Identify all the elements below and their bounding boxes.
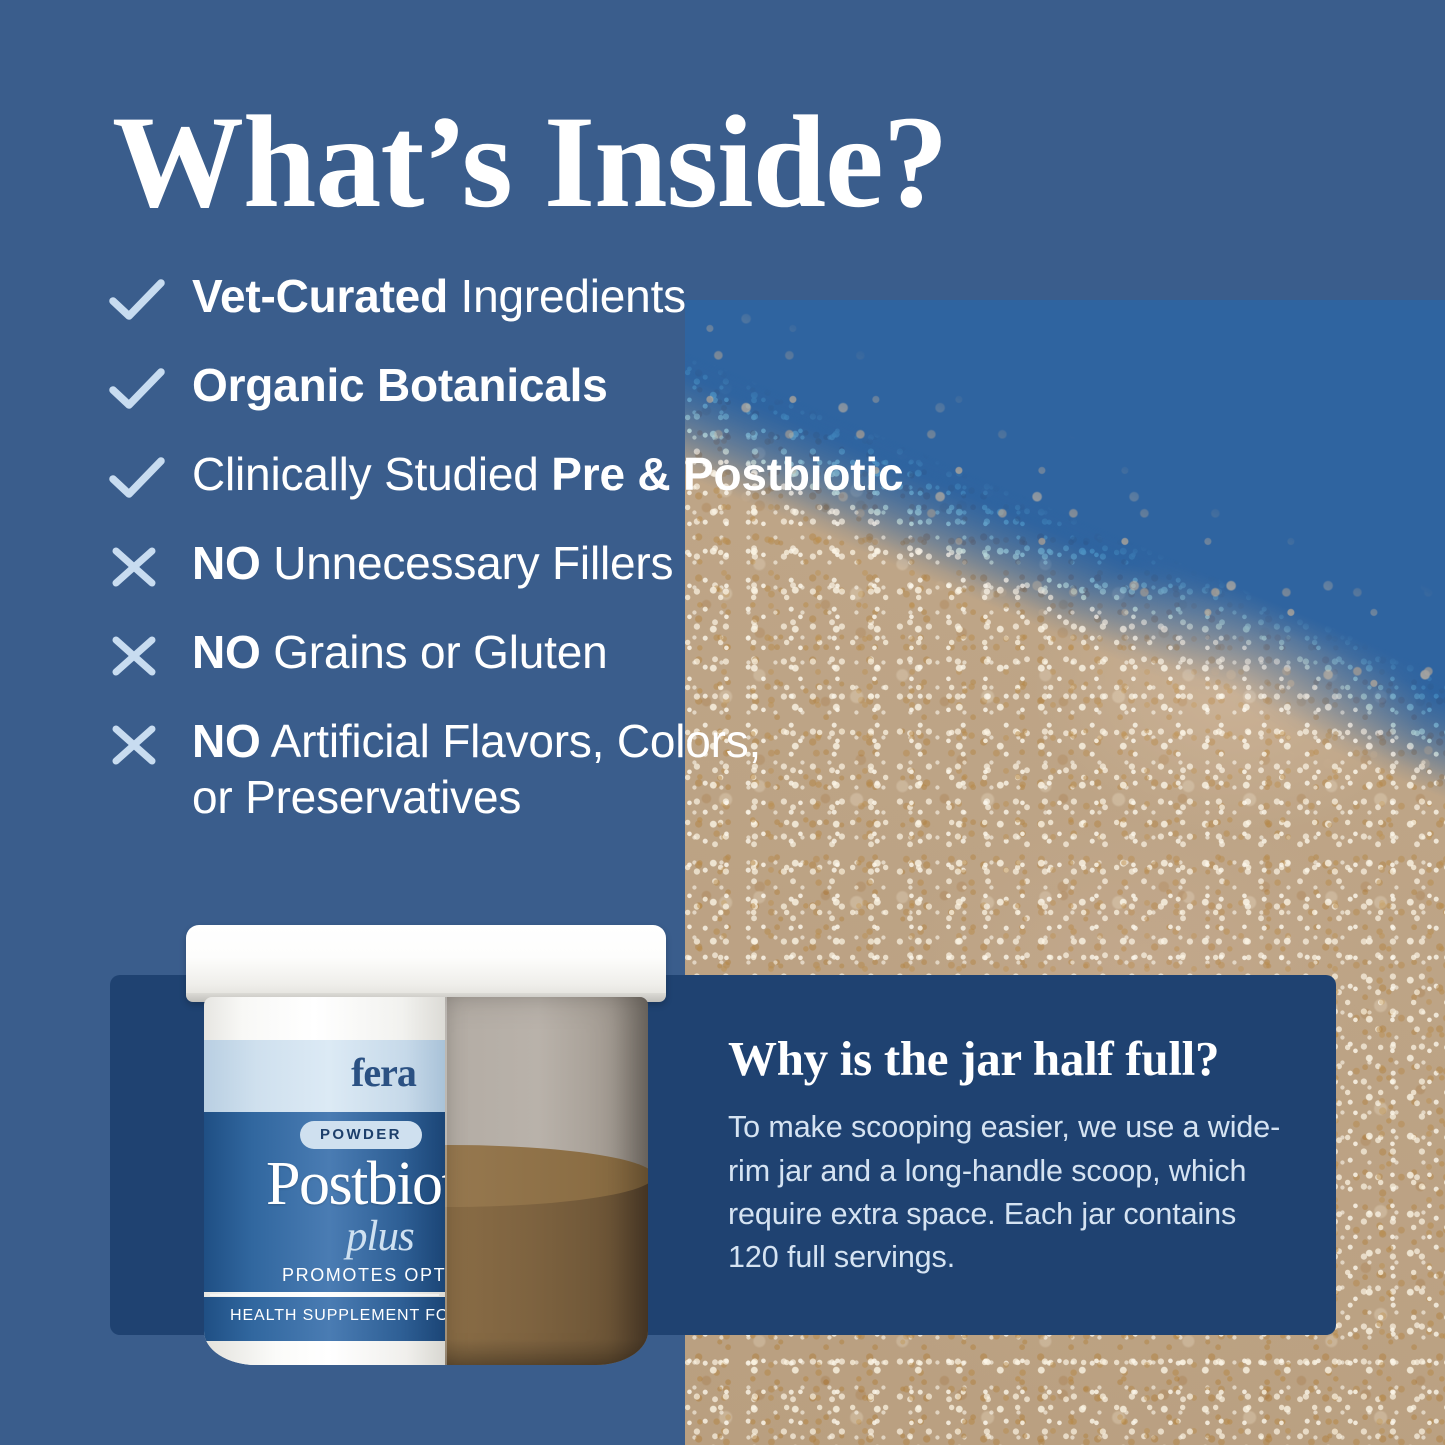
list-item: Vet-Curated Ingredients (108, 268, 1108, 330)
list-item: NO Grains or Gluten (108, 624, 1108, 686)
list-item: NO Unnecessary Fillers (108, 535, 1108, 597)
label-bottom-white (204, 1341, 445, 1365)
list-item-label: Clinically Studied Pre & Postbiotic (192, 446, 903, 502)
list-item: NO Artificial Flavors, Colors, or Preser… (108, 713, 1108, 825)
list-item-emphasis: NO (192, 537, 261, 589)
list-item-label: NO Grains or Gluten (192, 624, 607, 680)
list-item-label: NO Unnecessary Fillers (192, 535, 673, 591)
list-item-label: NO Artificial Flavors, Colors, or Preser… (192, 713, 761, 825)
list-item-emphasis: NO (192, 626, 261, 678)
list-item-label: Organic Botanicals (192, 357, 608, 413)
jar-body: fera POWDER Postbiotic plus PROMOTES OPT… (204, 997, 648, 1365)
list-item: Organic Botanicals (108, 357, 1108, 419)
jar-cutaway-interior (445, 997, 648, 1365)
list-item-rest: Unnecessary Fillers (261, 537, 674, 589)
list-item-emphasis: Vet-Curated (192, 270, 448, 322)
info-card-body: Why is the jar half full? To make scoopi… (728, 1033, 1288, 1280)
form-badge: POWDER (300, 1121, 422, 1149)
feature-list: Vet-Curated Ingredients Organic Botanica… (108, 268, 1108, 852)
info-card-text: To make scooping easier, we use a wide-r… (728, 1106, 1288, 1279)
product-subname: plus (204, 1212, 445, 1261)
list-item-label: Vet-Curated Ingredients (192, 268, 686, 324)
list-item-rest: Artificial Flavors, Colors, or Preservat… (192, 715, 761, 823)
check-icon (108, 268, 192, 323)
powder-fill-surface (445, 1145, 648, 1207)
cross-icon (108, 535, 192, 590)
cross-icon (108, 713, 192, 768)
product-jar: fera POWDER Postbiotic plus PROMOTES OPT… (186, 925, 666, 1365)
product-name: Postbiotic (204, 1149, 445, 1220)
list-item-emphasis: Organic Botanicals (192, 359, 608, 411)
list-item-lead: Clinically Studied (192, 448, 551, 500)
product-footer-text: HEALTH SUPPLEMENT FOR DOGS + CATS (204, 1307, 445, 1325)
cross-icon (108, 624, 192, 679)
list-item-emphasis: NO (192, 715, 261, 767)
powder-fill-level (445, 1175, 648, 1365)
label-divider (210, 1294, 439, 1296)
product-infographic: What’s Inside? Vet-Curated Ingredients O… (0, 0, 1445, 1445)
jar-cutaway-seam (445, 997, 447, 1365)
check-icon (108, 446, 192, 501)
brand-logo: fera (204, 1049, 445, 1096)
jar-label-front: fera POWDER Postbiotic plus PROMOTES OPT… (204, 997, 445, 1365)
page-title: What’s Inside? (112, 92, 948, 232)
info-card-title: Why is the jar half full? (728, 1033, 1288, 1084)
jar-lid (186, 925, 666, 1002)
check-icon (108, 357, 192, 412)
product-claim: PROMOTES OPTIMAL (204, 1265, 445, 1286)
list-item: Clinically Studied Pre & Postbiotic (108, 446, 1108, 508)
list-item-rest: Grains or Gluten (261, 626, 608, 678)
list-item-rest: Ingredients (448, 270, 686, 322)
list-item-emphasis: Pre & Postbiotic (551, 448, 903, 500)
